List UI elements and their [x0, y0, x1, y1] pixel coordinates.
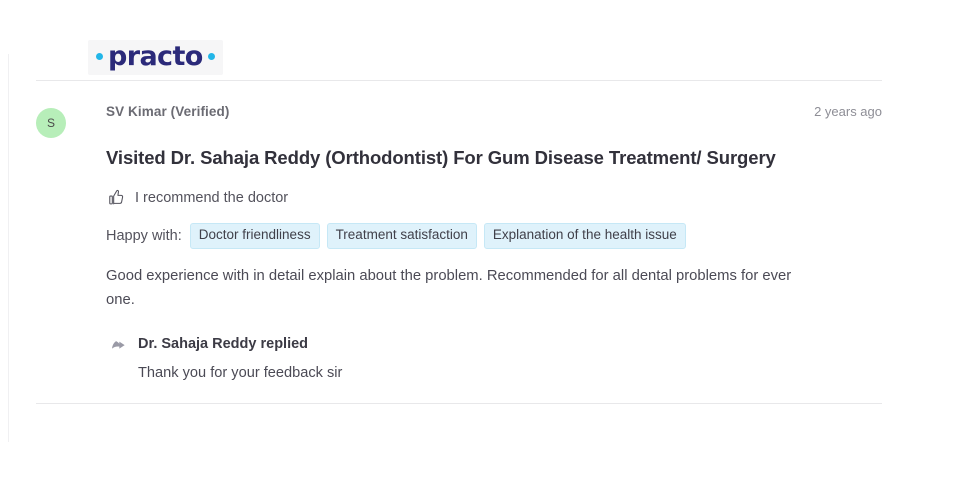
- recommendation-row: I recommend the doctor: [108, 189, 882, 206]
- dot-icon-left: [96, 53, 103, 60]
- review-title[interactable]: Visited Dr. Sahaja Reddy (Orthodontist) …: [106, 147, 882, 169]
- avatar: S: [36, 108, 66, 138]
- doctor-reply: Dr. Sahaja Reddy replied Thank you for y…: [110, 336, 882, 385]
- tag-doctor-friendliness[interactable]: Doctor friendliness: [190, 223, 320, 249]
- review-page: practo S SV Kimar (Verified) 2 years ago…: [0, 0, 954, 496]
- review-body-text: Good experience with in detail explain a…: [106, 265, 806, 313]
- tag-explanation-of-health-issue[interactable]: Explanation of the health issue: [484, 223, 686, 249]
- happy-with-label: Happy with:: [106, 228, 182, 244]
- reply-header: Dr. Sahaja Reddy replied: [110, 336, 882, 352]
- dot-icon-right: [208, 53, 215, 60]
- divider-bottom: [36, 403, 882, 404]
- review-header: SV Kimar (Verified) 2 years ago: [106, 104, 882, 126]
- avatar-initial: S: [47, 117, 55, 129]
- review-card: SV Kimar (Verified) 2 years ago Visited …: [106, 104, 882, 385]
- left-rule-divider: [8, 54, 9, 442]
- practo-logo[interactable]: practo: [88, 40, 223, 75]
- reviewer-name: SV Kimar (Verified): [106, 104, 229, 119]
- brand-name: practo: [108, 43, 203, 70]
- happy-with-row: Happy with: Doctor friendliness Treatmen…: [106, 223, 882, 249]
- tag-treatment-satisfaction[interactable]: Treatment satisfaction: [327, 223, 477, 249]
- review-timestamp: 2 years ago: [814, 104, 882, 119]
- divider-top: [36, 80, 882, 81]
- reply-arrow-icon: [110, 336, 126, 352]
- reply-author: Dr. Sahaja Reddy replied: [138, 336, 308, 352]
- reply-text: Thank you for your feedback sir: [138, 363, 882, 385]
- thumbs-up-icon: [108, 189, 125, 206]
- recommendation-text: I recommend the doctor: [135, 190, 288, 206]
